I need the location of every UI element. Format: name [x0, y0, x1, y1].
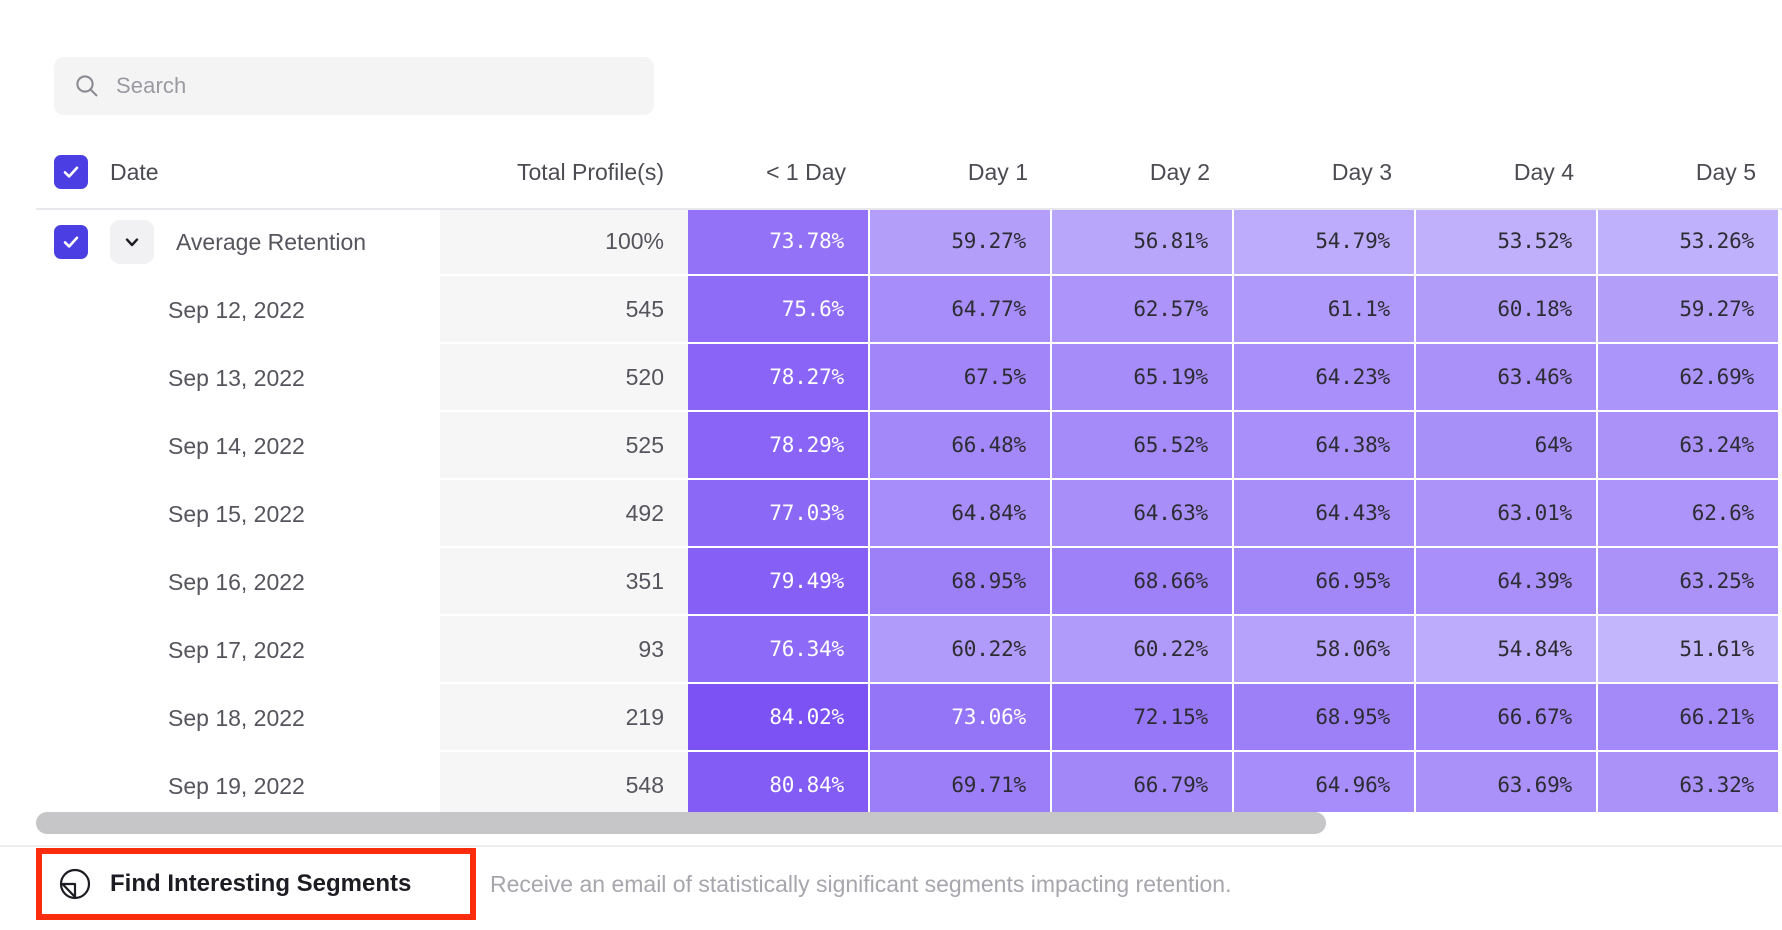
heatmap-cell: 69.71% — [870, 752, 1052, 812]
heatmap-cell: 53.26% — [1598, 208, 1780, 276]
select-all-checkbox[interactable] — [54, 155, 88, 189]
total-profiles-cell: 525 — [440, 412, 688, 480]
heatmap-cell: 64.63% — [1052, 480, 1234, 548]
table-row-date[interactable]: Sep 18, 2022 — [0, 684, 440, 752]
heatmap-cell: 64.77% — [870, 276, 1052, 344]
heatmap-cell: 68.66% — [1052, 548, 1234, 616]
heatmap-cell: 64.23% — [1234, 344, 1416, 412]
date-label: Sep 13, 2022 — [168, 365, 305, 392]
heatmap-cell: 60.22% — [1052, 616, 1234, 684]
table-row-date[interactable]: Sep 17, 2022 — [0, 616, 440, 684]
column-header-2[interactable]: < 1 Day — [688, 136, 870, 208]
row-checkbox[interactable] — [54, 225, 88, 259]
heatmap-cell: 72.15% — [1052, 684, 1234, 752]
column-header-5[interactable]: Day 3 — [1234, 136, 1416, 208]
heatmap-cell: 78.29% — [688, 412, 870, 480]
table-row-date[interactable]: Sep 19, 2022 — [0, 752, 440, 812]
heatmap-cell: 68.95% — [870, 548, 1052, 616]
heatmap-cell: 65.52% — [1052, 412, 1234, 480]
heatmap-cell: 76.34% — [688, 616, 870, 684]
heatmap-cell: 62.6% — [1598, 480, 1780, 548]
total-profiles-cell: 548 — [440, 752, 688, 812]
heatmap-cell: 66.21% — [1598, 684, 1780, 752]
find-segments-description: Receive an email of statistically signif… — [490, 862, 1231, 906]
search-icon — [74, 73, 100, 99]
column-header-label: < 1 Day — [766, 159, 846, 186]
total-profiles-cell: 492 — [440, 480, 688, 548]
column-header-3[interactable]: Day 1 — [870, 136, 1052, 208]
heatmap-cell: 68.95% — [1234, 684, 1416, 752]
heatmap-cell: 64.39% — [1416, 548, 1598, 616]
summary-row-label: Average Retention — [176, 229, 366, 256]
footer-divider — [0, 845, 1782, 847]
column-header-7[interactable]: Day 5 — [1598, 136, 1780, 208]
heatmap-cell: 66.67% — [1416, 684, 1598, 752]
table-row-date[interactable]: Sep 12, 2022 — [0, 276, 440, 344]
heatmap-cell: 51.61% — [1598, 616, 1780, 684]
total-profiles-cell: 520 — [440, 344, 688, 412]
summary-row-label-cell[interactable]: Average Retention — [0, 208, 440, 276]
heatmap-cell: 65.19% — [1052, 344, 1234, 412]
heatmap-cell: 75.6% — [688, 276, 870, 344]
table-row-date[interactable]: Sep 13, 2022 — [0, 344, 440, 412]
search-placeholder: Search — [116, 73, 186, 99]
date-label: Sep 16, 2022 — [168, 569, 305, 596]
heatmap-cell: 59.27% — [1598, 276, 1780, 344]
heatmap-cell: 64% — [1416, 412, 1598, 480]
date-label: Sep 14, 2022 — [168, 433, 305, 460]
horizontal-scrollbar[interactable] — [36, 812, 1782, 834]
heatmap-cell: 63.46% — [1416, 344, 1598, 412]
header-divider-right — [440, 208, 1782, 210]
heatmap-cell: 67.5% — [870, 344, 1052, 412]
heatmap-cell: 73.06% — [870, 684, 1052, 752]
heatmap-cell: 59.27% — [870, 208, 1052, 276]
heatmap-cell: 62.57% — [1052, 276, 1234, 344]
heatmap-cell: 84.02% — [688, 684, 870, 752]
date-label: Sep 19, 2022 — [168, 773, 305, 800]
table-row-date[interactable]: Sep 16, 2022 — [0, 548, 440, 616]
heatmap-cell: 54.79% — [1234, 208, 1416, 276]
column-header-label: Day 3 — [1332, 159, 1392, 186]
column-header-label: Day 4 — [1514, 159, 1574, 186]
date-label: Sep 12, 2022 — [168, 297, 305, 324]
heatmap-cell: 63.69% — [1416, 752, 1598, 812]
heatmap-cell: 80.84% — [688, 752, 870, 812]
column-header-label: Date — [110, 159, 159, 186]
heatmap-cell: 56.81% — [1052, 208, 1234, 276]
column-header-1[interactable]: Total Profile(s) — [440, 136, 688, 208]
heatmap-cell: 60.22% — [870, 616, 1052, 684]
segment-pie-icon — [58, 867, 92, 901]
find-interesting-segments-button[interactable]: Find Interesting Segments — [58, 862, 411, 906]
header-divider-left — [36, 208, 440, 210]
column-header-date[interactable]: Date — [0, 136, 440, 208]
summary-total-profiles: 100% — [440, 208, 688, 276]
retention-table: DateTotal Profile(s)< 1 DayDay 1Day 2Day… — [0, 136, 1782, 812]
column-header-label: Total Profile(s) — [517, 159, 664, 186]
total-profiles-cell: 545 — [440, 276, 688, 344]
heatmap-cell: 77.03% — [688, 480, 870, 548]
scrollbar-thumb[interactable] — [36, 812, 1326, 834]
date-label: Sep 18, 2022 — [168, 705, 305, 732]
table-row-date[interactable]: Sep 14, 2022 — [0, 412, 440, 480]
date-label: Sep 15, 2022 — [168, 501, 305, 528]
heatmap-cell: 63.01% — [1416, 480, 1598, 548]
heatmap-cell: 61.1% — [1234, 276, 1416, 344]
date-label: Sep 17, 2022 — [168, 637, 305, 664]
heatmap-cell: 79.49% — [688, 548, 870, 616]
total-profiles-cell: 351 — [440, 548, 688, 616]
heatmap-cell: 64.84% — [870, 480, 1052, 548]
heatmap-cell: 62.69% — [1598, 344, 1780, 412]
heatmap-cell: 66.95% — [1234, 548, 1416, 616]
heatmap-cell: 54.84% — [1416, 616, 1598, 684]
heatmap-cell: 63.24% — [1598, 412, 1780, 480]
chevron-down-icon[interactable] — [110, 220, 154, 264]
heatmap-cell: 63.25% — [1598, 548, 1780, 616]
heatmap-cell: 66.48% — [870, 412, 1052, 480]
search-bar[interactable]: Search — [54, 57, 654, 115]
heatmap-cell: 78.27% — [688, 344, 870, 412]
heatmap-cell: 63.32% — [1598, 752, 1780, 812]
search-input[interactable]: Search — [54, 57, 654, 115]
column-header-6[interactable]: Day 4 — [1416, 136, 1598, 208]
total-profiles-cell: 219 — [440, 684, 688, 752]
heatmap-cell: 64.96% — [1234, 752, 1416, 812]
find-segments-label: Find Interesting Segments — [110, 870, 411, 898]
total-profiles-cell: 93 — [440, 616, 688, 684]
heatmap-cell: 64.43% — [1234, 480, 1416, 548]
heatmap-cell: 58.06% — [1234, 616, 1416, 684]
column-header-label: Day 1 — [968, 159, 1028, 186]
column-header-label: Day 5 — [1696, 159, 1756, 186]
heatmap-cell: 66.79% — [1052, 752, 1234, 812]
column-header-label: Day 2 — [1150, 159, 1210, 186]
heatmap-cell: 73.78% — [688, 208, 870, 276]
table-row-date[interactable]: Sep 15, 2022 — [0, 480, 440, 548]
heatmap-cell: 53.52% — [1416, 208, 1598, 276]
column-header-4[interactable]: Day 2 — [1052, 136, 1234, 208]
heatmap-cell: 64.38% — [1234, 412, 1416, 480]
heatmap-cell: 60.18% — [1416, 276, 1598, 344]
